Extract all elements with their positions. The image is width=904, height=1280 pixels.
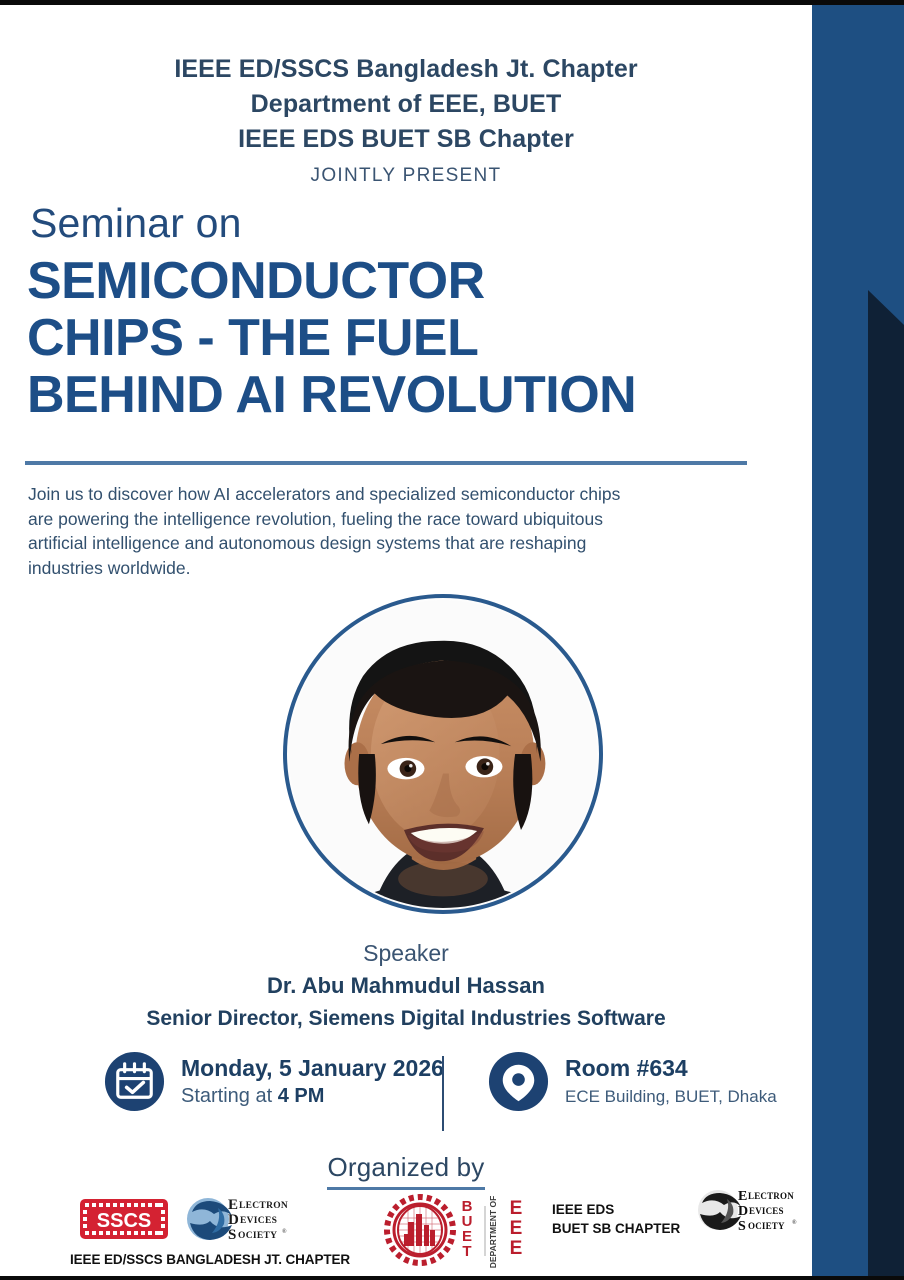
svg-text:EVICES: EVICES	[749, 1206, 784, 1216]
svg-text:D: D	[228, 1212, 239, 1228]
title-line-2: CHIPS - THE FUEL	[27, 310, 787, 367]
organizer-line-2: Department of EEE, BUET	[0, 87, 812, 122]
speaker-label: Speaker	[0, 938, 812, 968]
svg-text:OCIETY: OCIETY	[748, 1221, 785, 1231]
page-title: SEMICONDUCTOR CHIPS - THE FUEL BEHIND AI…	[27, 253, 787, 424]
buet-gear-emblem	[387, 1197, 453, 1263]
logo-right-line-2: BUET SB CHAPTER	[552, 1219, 680, 1238]
jointly-present-label: JOINTLY PRESENT	[0, 165, 812, 187]
calendar-icon	[103, 1050, 166, 1113]
organizer-logos: SSCS E LECTRON D EVICES S OCI	[0, 1190, 812, 1280]
svg-text:SSCS: SSCS	[97, 1210, 151, 1232]
svg-text:EVICES: EVICES	[240, 1216, 277, 1226]
organizer-header: IEEE ED/SSCS Bangladesh Jt. Chapter Depa…	[0, 52, 812, 187]
svg-text:S: S	[228, 1227, 236, 1243]
speaker-portrait-illustration	[287, 598, 599, 910]
event-details-row: Monday, 5 January 2026 Starting at 4 PM …	[0, 1048, 812, 1138]
organizer-line-1: IEEE ED/SSCS Bangladesh Jt. Chapter	[0, 52, 812, 87]
event-venue: ECE Building, BUET, Dhaka	[565, 1085, 777, 1109]
logo-ieee-eds-sb-row: IEEE EDS BUET SB CHAPTER E LECTRON D EVI…	[552, 1198, 816, 1240]
eds-logo-icon-right: E LECTRON D EVICES S OCIETY ®	[686, 1184, 816, 1240]
svg-text:LECTRON: LECTRON	[748, 1191, 794, 1201]
speaker-photo	[283, 594, 603, 914]
svg-text:S: S	[738, 1219, 746, 1234]
event-time-line: Starting at 4 PM	[181, 1083, 444, 1109]
location-pin-icon	[487, 1050, 550, 1113]
speaker-name: Dr. Abu Mahmudul Hassan	[0, 970, 812, 1002]
buet-vertical-letters: B U E T	[462, 1198, 473, 1260]
speaker-info: Speaker Dr. Abu Mahmudul Hassan Senior D…	[0, 938, 812, 1034]
logo-sscs-eds-group: SSCS E LECTRON D EVICES S OCI	[70, 1190, 350, 1267]
details-divider	[442, 1056, 444, 1131]
logo-ieee-eds-sb-group: IEEE EDS BUET SB CHAPTER E LECTRON D EVI…	[552, 1198, 816, 1240]
speaker-job-title: Senior Director, Siemens Digital Industr…	[0, 1003, 812, 1034]
logo-sscs-eds-marks: SSCS E LECTRON D EVICES S OCI	[70, 1190, 350, 1248]
svg-text:E: E	[738, 1189, 747, 1204]
svg-text:D: D	[738, 1204, 748, 1219]
department-of-label: DEPARTMENT OF	[488, 1196, 498, 1268]
eee-vertical-letters: E E E	[510, 1198, 523, 1259]
buet-eee-logo-icon: B U E T DEPARTMENT OF E E E	[382, 1192, 532, 1268]
event-date-block: Monday, 5 January 2026 Starting at 4 PM	[103, 1050, 444, 1113]
title-eyebrow: Seminar on	[30, 200, 242, 247]
organizer-line-3: IEEE EDS BUET SB Chapter	[0, 122, 812, 157]
logo-caption-left: IEEE ED/SSCS BANGLADESH JT. CHAPTER	[70, 1252, 350, 1267]
poster-content: IEEE ED/SSCS Bangladesh Jt. Chapter Depa…	[0, 0, 812, 1280]
title-line-3: BEHIND AI REVOLUTION	[27, 367, 787, 424]
svg-text:®: ®	[792, 1219, 797, 1226]
sscs-logo-icon: SSCS	[70, 1191, 178, 1247]
logo-right-line-1: IEEE EDS	[552, 1200, 680, 1219]
poster-root: IEEE ED/SSCS Bangladesh Jt. Chapter Depa…	[0, 0, 904, 1280]
event-room: Room #634	[565, 1054, 777, 1082]
logo-caption-right-text: IEEE EDS BUET SB CHAPTER	[552, 1200, 680, 1238]
svg-text:E: E	[510, 1198, 523, 1219]
title-divider	[25, 461, 747, 465]
title-line-1: SEMICONDUCTOR	[27, 253, 787, 310]
eds-logo-icon-left: E LECTRON D EVICES S OCIETY ®	[178, 1190, 296, 1248]
svg-text:OCIETY: OCIETY	[238, 1231, 277, 1241]
event-location-block: Room #634 ECE Building, BUET, Dhaka	[487, 1050, 777, 1113]
svg-text:E: E	[510, 1218, 523, 1239]
event-date-primary: Monday, 5 January 2026	[181, 1054, 444, 1082]
svg-text:LECTRON: LECTRON	[239, 1201, 288, 1211]
logo-buet-eee-group: B U E T DEPARTMENT OF E E E	[382, 1192, 532, 1273]
event-time-value: 4 PM	[278, 1085, 325, 1107]
organized-by-heading: Organized by	[327, 1152, 484, 1190]
svg-text:E: E	[510, 1238, 523, 1259]
svg-text:®: ®	[282, 1228, 287, 1235]
event-date-text: Monday, 5 January 2026 Starting at 4 PM	[181, 1054, 444, 1109]
svg-text:E: E	[228, 1197, 238, 1213]
description-paragraph: Join us to discover how AI accelerators …	[28, 482, 628, 580]
event-location-text: Room #634 ECE Building, BUET, Dhaka	[565, 1054, 777, 1109]
event-time-prefix: Starting at	[181, 1085, 278, 1107]
bottom-black-bar	[0, 1276, 904, 1280]
svg-text:T: T	[462, 1243, 471, 1260]
